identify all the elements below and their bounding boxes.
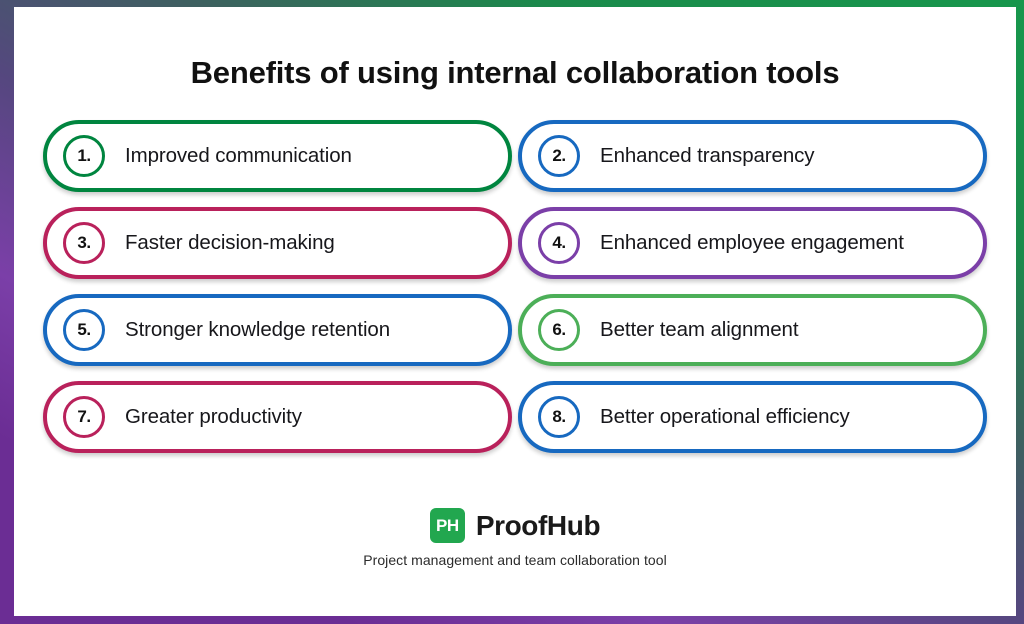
brand-name: ProofHub [476, 510, 600, 542]
brand-tagline: Project management and team collaboratio… [14, 552, 1016, 568]
benefit-card[interactable]: 2.Enhanced transparency [518, 120, 987, 192]
benefit-card[interactable]: 5.Stronger knowledge retention [43, 294, 512, 366]
benefit-number-badge: 8. [538, 396, 580, 438]
benefit-label: Greater productivity [125, 405, 302, 429]
benefit-label: Faster decision-making [125, 231, 335, 255]
benefit-card[interactable]: 6.Better team alignment [518, 294, 987, 366]
brand-lockup: PH ProofHub [430, 508, 600, 543]
benefit-number-badge: 4. [538, 222, 580, 264]
benefit-number-badge: 5. [63, 309, 105, 351]
benefits-grid: 1.Improved communication2.Enhanced trans… [43, 120, 987, 453]
infographic-canvas: Benefits of using internal collaboration… [14, 7, 1016, 616]
benefit-card[interactable]: 8.Better operational efficiency [518, 381, 987, 453]
benefit-label: Better team alignment [600, 318, 798, 342]
benefit-label: Stronger knowledge retention [125, 318, 390, 342]
benefit-label: Improved communication [125, 144, 352, 168]
benefit-card[interactable]: 3.Faster decision-making [43, 207, 512, 279]
brand-footer: PH ProofHub Project management and team … [14, 508, 1016, 568]
benefit-label: Enhanced employee engagement [600, 231, 904, 255]
proofhub-logo-icon: PH [430, 508, 465, 543]
benefit-number-badge: 1. [63, 135, 105, 177]
benefit-label: Enhanced transparency [600, 144, 814, 168]
benefit-number-badge: 7. [63, 396, 105, 438]
infographic-frame: Benefits of using internal collaboration… [0, 0, 1024, 624]
benefit-card[interactable]: 4.Enhanced employee engagement [518, 207, 987, 279]
benefit-card[interactable]: 1.Improved communication [43, 120, 512, 192]
benefit-number-badge: 6. [538, 309, 580, 351]
benefit-number-badge: 2. [538, 135, 580, 177]
benefit-number-badge: 3. [63, 222, 105, 264]
benefit-label: Better operational efficiency [600, 405, 850, 429]
benefit-card[interactable]: 7.Greater productivity [43, 381, 512, 453]
page-title: Benefits of using internal collaboration… [14, 7, 1016, 88]
